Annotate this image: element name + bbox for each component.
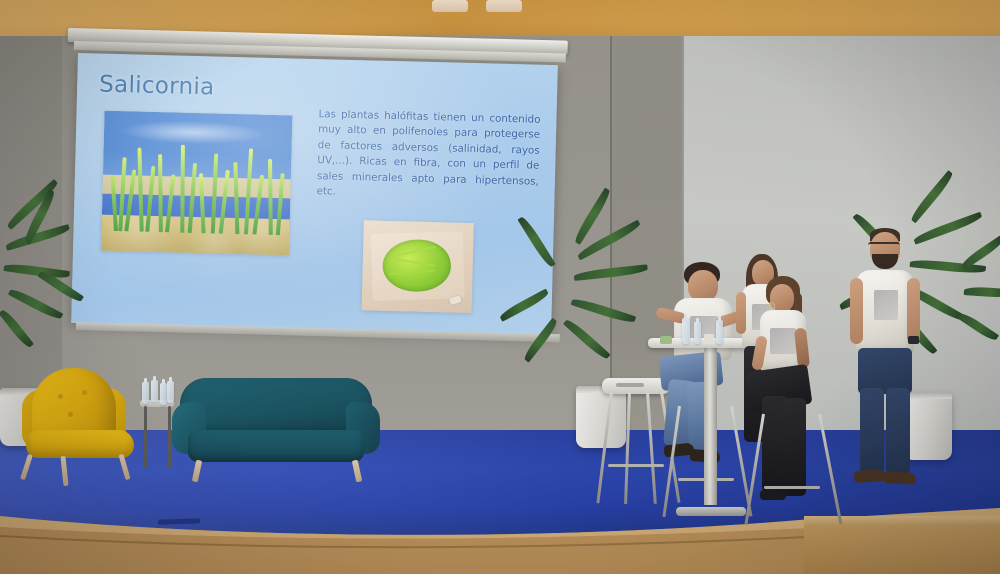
leg-jeans <box>860 388 884 474</box>
projection-screen: Salicornia Las plant <box>71 53 558 335</box>
table-small-item <box>704 334 714 344</box>
photo-small-chip <box>449 295 462 305</box>
arm-left <box>736 292 746 334</box>
water-bottle[interactable] <box>716 320 723 344</box>
torso-tshirt <box>856 270 914 354</box>
stage-step-tread <box>804 516 1000 526</box>
slide-body-text: Las plantas halófitas tienen un contenid… <box>316 107 540 205</box>
arm-left <box>850 278 863 344</box>
water-bottle[interactable] <box>682 318 690 344</box>
water-bottle[interactable] <box>142 382 149 404</box>
sofa-back <box>180 378 372 436</box>
shoe <box>854 469 887 483</box>
glasses-icon <box>868 242 900 251</box>
presentation-photo-scene: Salicornia Las plant <box>0 0 1000 574</box>
tshirt-graphic <box>770 328 796 354</box>
water-bottle[interactable] <box>151 380 158 402</box>
ceiling-spotlight-icon <box>432 0 468 12</box>
teal-sofa[interactable] <box>172 378 380 478</box>
person-man-standing-right <box>852 228 922 500</box>
slide-photo-salicornia-field <box>101 111 292 256</box>
high-table-base <box>676 507 746 516</box>
water-bottle[interactable] <box>694 322 701 344</box>
tshirt-graphic <box>874 290 898 320</box>
high-table-column <box>704 347 717 505</box>
bar-stool-occupied-2[interactable] <box>758 400 826 530</box>
table-small-item <box>660 336 672 344</box>
shoe <box>884 471 917 485</box>
wristwatch-icon <box>908 336 919 344</box>
side-table[interactable] <box>140 400 174 472</box>
slide-title: Salicornia <box>99 72 215 101</box>
beard <box>872 254 898 269</box>
stool-handle-slot <box>616 383 644 387</box>
sofa-seat <box>188 430 364 462</box>
slide-photo-harvested-salicornia <box>362 220 474 313</box>
armchair-seat <box>26 430 134 458</box>
arm-right <box>907 278 920 344</box>
leg-jeans-2 <box>886 388 910 474</box>
stool-footring <box>764 486 820 489</box>
water-bottle[interactable] <box>160 383 167 405</box>
ceiling-spotlight-icon <box>486 0 522 12</box>
stage-step <box>804 518 1000 574</box>
yellow-armchair[interactable] <box>18 368 138 476</box>
